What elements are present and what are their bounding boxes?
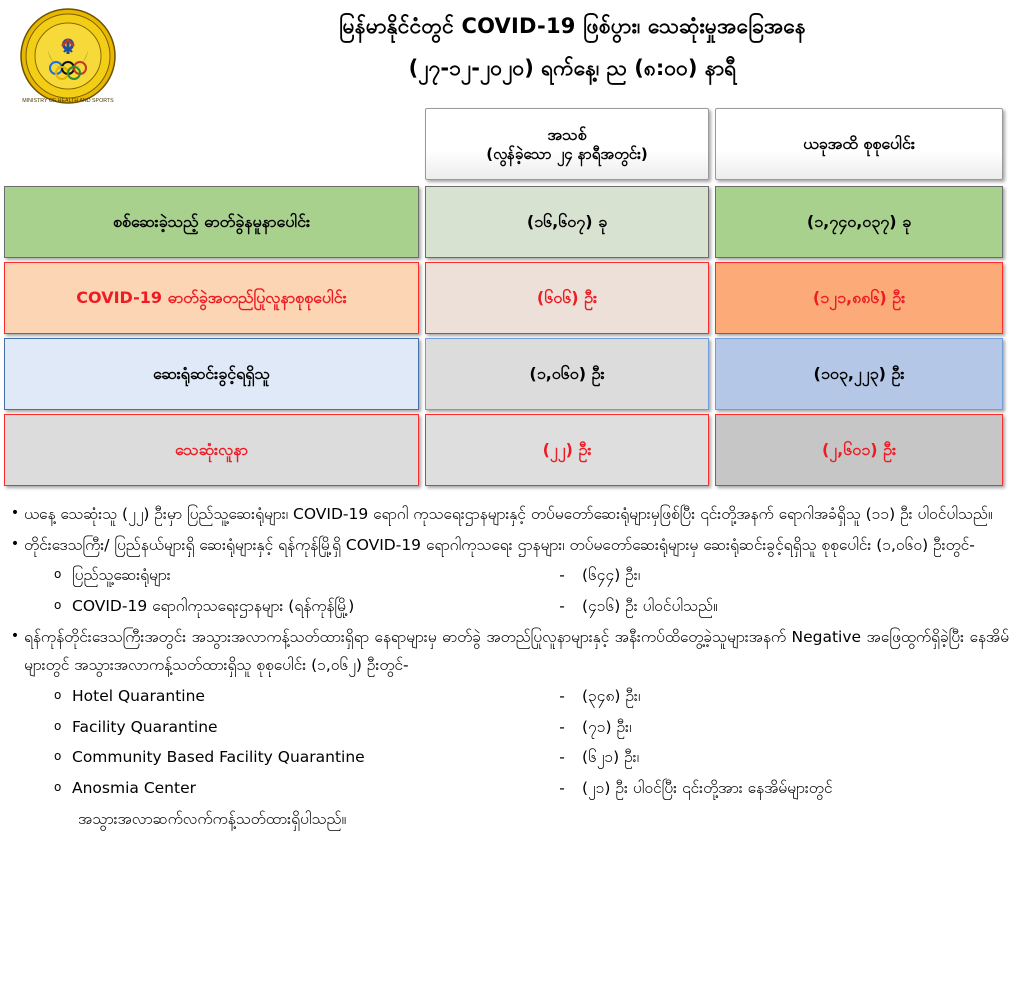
dash-separator: - [542,682,582,711]
header-new-line1: အသစ် [547,125,586,145]
row-new-deaths: (၂၂) ဦး [425,414,709,486]
dash-separator: - [542,713,582,742]
table-row: COVID-19 ဓာတ်ခွဲအတည်ပြုလူနာစုစုပေါင်း (၆… [4,262,1009,334]
dash-separator: - [542,592,582,621]
sub-label-public-hospitals: ပြည်သူ့ဆေးရုံများ [72,561,542,590]
circle-bullet-icon: o [54,774,72,798]
sub-value-facility-quarantine: (၇၁) ဦး၊ [582,713,1009,742]
row-total-discharged: (၁၀၃,၂၂၃) ဦး [715,338,1003,410]
sub-value-hotel-quarantine: (၃၄၈) ဦး၊ [582,682,1009,711]
table-row: ဆေးရုံဆင်းခွင့်ရရှိသူ (၁,၀၆၀) ဦး (၁၀၃,၂၂… [4,338,1009,410]
dash-separator: - [542,743,582,772]
row-label-deaths: သေဆုံးလူနာ [4,414,419,486]
row-label-discharged: ဆေးရုံဆင်းခွင့်ရရှိသူ [4,338,419,410]
seal-ring-text: MINISTRY OF HEALTH AND SPORTS [22,98,114,104]
circle-bullet-icon: o [54,682,72,706]
circle-bullet-icon: o [54,592,72,616]
sub-label-community-quarantine: Community Based Facility Quarantine [72,743,542,772]
summary-table: အသစ် (လွန်ခဲ့သော ၂၄ နာရီအတွင်း) ယခုအထိ စ… [4,108,1009,486]
note-item: • ယနေ့ သေဆုံးသူ (၂၂) ဦးမှာ ပြည်သူ့ဆေးရုံ… [6,500,1009,529]
row-label-confirmed: COVID-19 ဓာတ်ခွဲအတည်ပြုလူနာစုစုပေါင်း [4,262,419,334]
sub-value-public-hospitals: (၆၄၄) ဦး၊ [582,561,1009,590]
bullet-icon: • [6,623,24,650]
table-row: သေဆုံးလူနာ (၂၂) ဦး (၂,၆၀၁) ဦး [4,414,1009,486]
dash-separator: - [542,774,582,803]
sub-value-anosmia-center: (၂၁) ဦး ပါဝင်ပြီး ၎င်းတို့အား နေအိမ်များ… [582,774,1009,803]
sub-label-facility-quarantine: Facility Quarantine [72,713,542,742]
circle-bullet-icon: o [54,743,72,767]
bullet-icon: • [6,531,24,558]
report-header: MINISTRY OF HEALTH AND SPORTS မြန်မာနိုင… [0,0,1015,108]
table-header-row: အသစ် (လွန်ခဲ့သော ၂၄ နာရီအတွင်း) ယခုအထိ စ… [4,108,1009,180]
note-text-discharges: တိုင်းဒေသကြီး/ ပြည်နယ်များရှိ ဆေးရုံများ… [24,531,1009,560]
header-total-label: ယခုအထိ စုစုပေါင်း [803,134,915,154]
sub-list-item: o Hotel Quarantine - (၃၄၈) ဦး၊ [54,682,1009,711]
sub-value-covid-centres: (၄၁၆) ဦး ပါဝင်ပါသည်။ [582,592,1009,621]
note-item: • ရန်ကုန်တိုင်းဒေသကြီးအတွင်း အသွားအလာကန့… [6,623,1009,680]
header-cell-new: အသစ် (လွန်ခဲ့သော ၂၄ နာရီအတွင်း) [425,108,709,180]
note-text-quarantine: ရန်ကုန်တိုင်းဒေသကြီးအတွင်း အသွားအလာကန့်သ… [24,623,1009,680]
sub-label-hotel-quarantine: Hotel Quarantine [72,682,542,711]
title-block: မြန်မာနိုင်ငံတွင် COVID-19 ဖြစ်ပွား၊ သေဆ… [140,6,1005,90]
circle-bullet-icon: o [54,713,72,737]
sub-list-item: o Anosmia Center - (၂၁) ဦး ပါဝင်ပြီး ၎င်… [54,774,1009,803]
notes-section: • ယနေ့ သေဆုံးသူ (၂၂) ဦးမှာ ပြည်သူ့ဆေးရုံ… [6,500,1009,833]
page-title: မြန်မာနိုင်ငံတွင် COVID-19 ဖြစ်ပွား၊ သေဆ… [140,6,1005,46]
sub-label-covid-centres: COVID-19 ရောဂါကုသရေးဌာနများ (ရန်ကုန်မြို… [72,592,542,621]
dash-separator: - [542,561,582,590]
row-new-confirmed: (၆၀၆) ဦး [425,262,709,334]
header-cell-total: ယခုအထိ စုစုပေါင်း [715,108,1003,180]
seal-icon: MINISTRY OF HEALTH AND SPORTS [18,6,118,106]
row-total-confirmed: (၁၂၁,၈၈၆) ဦး [715,262,1003,334]
sub-list-item: o COVID-19 ရောဂါကုသရေးဌာနများ (ရန်ကုန်မြ… [54,592,1009,621]
row-new-discharged: (၁,၀၆၀) ဦး [425,338,709,410]
sub-list-item: o Facility Quarantine - (၇၁) ဦး၊ [54,713,1009,742]
note-text-deaths: ယနေ့ သေဆုံးသူ (၂၂) ဦးမှာ ပြည်သူ့ဆေးရုံမျ… [24,500,1009,529]
row-new-tests: (၁၆,၆၀၇) ခု [425,186,709,258]
note-item: • တိုင်းဒေသကြီး/ ပြည်နယ်များရှိ ဆေးရုံမျ… [6,531,1009,560]
ministry-seal-logo: MINISTRY OF HEALTH AND SPORTS [18,6,118,106]
header-new-line2: (လွန်ခဲ့သော ၂၄ နာရီအတွင်း) [486,145,648,164]
sub-value-community-quarantine: (၆၂၁) ဦး၊ [582,743,1009,772]
table-row: စစ်ဆေးခဲ့သည့် ဓာတ်ခွဲနမူနာပေါင်း (၁၆,၆၀၇… [4,186,1009,258]
bullet-icon: • [6,500,24,527]
sub-list-item: o ပြည်သူ့ဆေးရုံများ - (၆၄၄) ဦး၊ [54,561,1009,590]
circle-bullet-icon: o [54,561,72,585]
row-total-deaths: (၂,၆၀၁) ဦး [715,414,1003,486]
sub-label-anosmia-center: Anosmia Center [72,774,542,803]
sub-list-item: o Community Based Facility Quarantine - … [54,743,1009,772]
row-label-tests: စစ်ဆေးခဲ့သည့် ဓာတ်ခွဲနမူနာပေါင်း [4,186,419,258]
row-total-tests: (၁,၇၄၀,၀၃၇) ခု [715,186,1003,258]
report-datetime: (၂၇-၁၂-၂၀၂၀) ရက်နေ့၊ ည (၈:၀၀) နာရီ [140,46,1005,90]
sub-continuation-anosmia: အသွားအလာဆက်လက်ကန့်သတ်ထားရှိပါသည်။ [78,805,1009,834]
